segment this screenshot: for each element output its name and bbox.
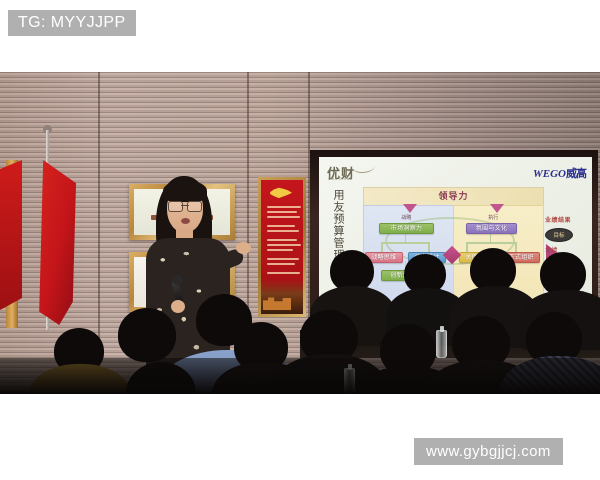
poster-text-line [267,272,300,274]
poster-text-line [267,258,299,260]
poster-text-line [267,206,301,208]
diagram-node: 市场洞察力 [379,223,433,234]
poster-text-line [267,230,299,232]
poster-text-line [267,239,297,241]
slide-brand-en: CMA CHINA [328,177,353,181]
poster-text-line [267,225,295,227]
poster-text-line [267,249,293,251]
foreground-shadow [0,358,600,394]
audience-head [118,308,176,362]
poster-text-line [267,216,300,218]
connector [381,242,430,244]
microphone-head [172,275,183,285]
poster-text-line [267,244,301,246]
strategy-arrow-caption: 战略 [401,214,411,221]
poster-text-line [267,263,295,265]
glasses-lens-left [168,201,183,212]
diagram-node: 氛围与文化 [466,223,517,234]
flag-secondary [0,160,22,310]
execution-arrow-icon [490,204,504,213]
connector [466,242,515,244]
speaker-fringe [163,180,207,202]
execution-arrow-caption: 执行 [488,214,498,221]
speaker-glasses [168,201,202,210]
speaker-mouth [181,218,190,224]
party-poster [261,180,303,314]
strategy-arrow-icon [403,204,417,213]
results-title: 业绩结果 [545,215,589,224]
wego-logo-text: WEGO [533,168,566,180]
diagram-header-label: 领导力 [438,189,468,202]
poster-text-line [267,211,297,213]
glasses-bridge [181,205,189,206]
screenshot-root: 优财 CMA CHINA WEGO威高 用友预算管理案例 优财 领导力 战略 [0,0,600,480]
presentation-photo: 优财 CMA CHINA WEGO威高 用友预算管理案例 优财 领导力 战略 [0,72,600,394]
water-bottle [436,330,447,358]
party-poster-frame [258,177,306,317]
tg-watermark: TG: MYYJJPP [8,10,136,36]
wego-logo-cn: 威高 [566,167,586,180]
url-watermark: www.gybgjjcj.com [414,438,563,465]
speaker-right-hand [236,242,251,254]
party-emblem-icon [270,187,292,200]
glasses-lens-right [187,201,202,212]
speaker-left-hand [171,300,185,313]
wego-logo: WEGO威高 [533,165,586,181]
results-badge: 目标 [545,228,573,242]
